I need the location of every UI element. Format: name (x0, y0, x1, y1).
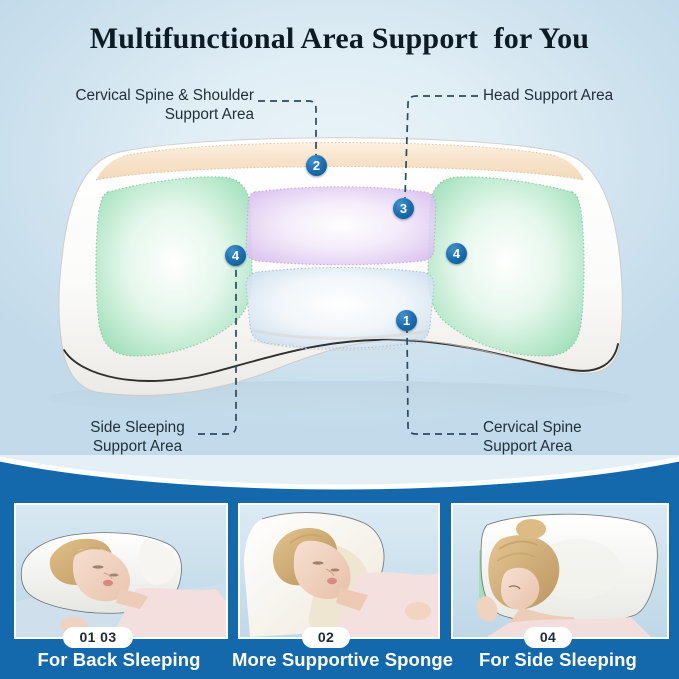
photo-side-sleeping (453, 505, 667, 637)
badge-1: 1 (396, 310, 417, 331)
gallery-badge-back-sleeping: 01 03 (63, 627, 133, 648)
gallery-badge-supportive-sponge: 02 (302, 627, 350, 648)
badge-2: 2 (306, 155, 327, 176)
gallery-panel-back-sleeping[interactable] (14, 503, 228, 639)
callout-side-sleeping: Side Sleeping Support Area (60, 418, 215, 456)
infographic-root: Multifunctional Area Support for You (0, 0, 679, 679)
gallery-panel-supportive-sponge[interactable] (238, 503, 440, 639)
callout-cervical-shoulder: Cervical Spine & Shoulder Support Area (44, 86, 254, 124)
badge-4-left: 4 (225, 245, 246, 266)
callout-cervical-spine: Cervical Spine Support Area (483, 418, 663, 456)
gallery-section: 01 03 02 04 For Back Sleeping More Suppo… (0, 455, 679, 679)
callout-head-support: Head Support Area (483, 86, 679, 105)
gallery-caption-back-sleeping: For Back Sleeping (14, 649, 224, 671)
gallery-caption-side-sleeping: For Side Sleeping (451, 649, 665, 671)
gallery-panels: 01 03 02 04 For Back Sleeping More Suppo… (0, 455, 679, 679)
badge-3: 3 (393, 198, 414, 219)
gallery-badge-side-sleeping: 04 (524, 627, 572, 648)
photo-supportive-sponge (240, 505, 438, 637)
gallery-caption-supportive-sponge: More Supportive Sponge (232, 649, 442, 671)
pillow-illustration (0, 0, 679, 470)
gallery-panel-side-sleeping[interactable] (451, 503, 669, 639)
hero-section: Multifunctional Area Support for You (0, 0, 679, 470)
photo-back-sleeping (16, 505, 226, 637)
badge-4-right: 4 (446, 243, 467, 264)
